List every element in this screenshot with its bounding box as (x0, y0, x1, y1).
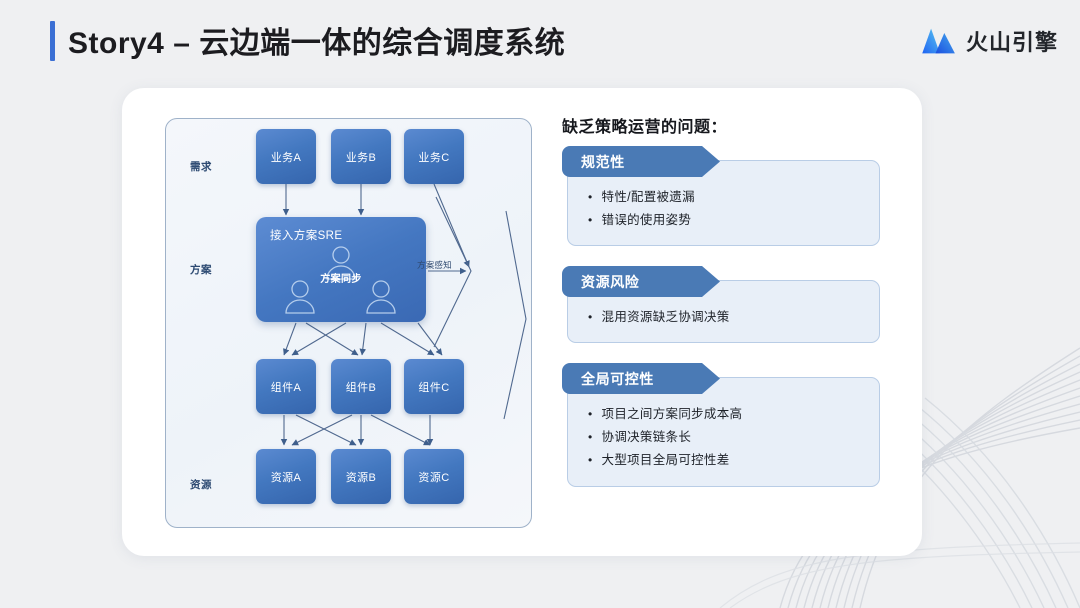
row-label-demand: 需求 (190, 159, 212, 174)
row-label-resource: 资源 (190, 477, 212, 492)
list-item-text: 混用资源缺乏协调决策 (602, 306, 730, 329)
node-business-c[interactable]: 业务C (404, 129, 464, 184)
problem-card-tab[interactable]: 全局可控性 (562, 363, 720, 394)
problems-panel: 缺乏策略运营的问题： 规范性 • 特性/配置被遗漏 • 错误的使用姿势 (562, 113, 902, 533)
list-item: • 协调决策链条长 (588, 426, 868, 449)
problem-card-title: 规范性 (581, 146, 625, 177)
list-item: • 大型项目全局可控性差 (588, 449, 868, 472)
bullet-icon: • (588, 426, 593, 449)
node-resource-a[interactable]: 资源A (256, 449, 316, 504)
volcano-mountain-icon (921, 26, 957, 56)
node-component-c[interactable]: 组件C (404, 359, 464, 414)
node-business-b[interactable]: 业务B (331, 129, 391, 184)
problem-list: • 项目之间方案同步成本高 • 协调决策链条长 • 大型项目全局可控性差 (588, 403, 868, 472)
brand-logo: 火山引擎 (921, 24, 1058, 58)
problem-list: • 混用资源缺乏协调决策 (588, 306, 868, 329)
bullet-icon: • (588, 306, 593, 329)
list-item-text: 错误的使用姿势 (602, 209, 692, 232)
bullet-icon: • (588, 186, 593, 209)
node-sre-platform[interactable]: 接入方案SRE 方案同步 (256, 217, 426, 322)
list-item: • 错误的使用姿势 (588, 209, 868, 232)
brand-logo-text: 火山引擎 (966, 25, 1058, 57)
node-resource-b[interactable]: 资源B (331, 449, 391, 504)
node-business-a[interactable]: 业务A (256, 129, 316, 184)
list-item-text: 项目之间方案同步成本高 (602, 403, 743, 426)
problem-list: • 特性/配置被遗漏 • 错误的使用姿势 (588, 186, 868, 232)
list-item: • 混用资源缺乏协调决策 (588, 306, 868, 329)
problem-card-title: 全局可控性 (581, 363, 654, 394)
list-item: • 项目之间方案同步成本高 (588, 403, 868, 426)
list-item-text: 特性/配置被遗漏 (602, 186, 695, 209)
problem-card-tab[interactable]: 资源风险 (562, 266, 720, 297)
problems-title: 缺乏策略运营的问题： (562, 113, 727, 137)
title-accent-bar (50, 21, 55, 61)
bullet-icon: • (588, 209, 593, 232)
bullet-icon: • (588, 403, 593, 426)
node-component-b[interactable]: 组件B (331, 359, 391, 414)
problem-card-title: 资源风险 (581, 266, 639, 297)
node-component-a[interactable]: 组件A (256, 359, 316, 414)
row-label-plan: 方案 (190, 262, 212, 277)
list-item: • 特性/配置被遗漏 (588, 186, 868, 209)
architecture-diagram: 需求 方案 资源 业务A 业务B 业务C 接入方案SRE 方案同步 方案感知 (165, 118, 532, 528)
page-title: Story4 – 云边端一体的综合调度系统 (68, 18, 565, 62)
list-item-text: 大型项目全局可控性差 (602, 449, 730, 472)
sre-sync-label: 方案同步 (256, 270, 426, 285)
problem-card-tab[interactable]: 规范性 (562, 146, 720, 177)
sre-title: 接入方案SRE (270, 227, 342, 243)
bullet-icon: • (588, 449, 593, 472)
edge-label-plan-awareness: 方案感知 (417, 259, 452, 271)
node-resource-c[interactable]: 资源C (404, 449, 464, 504)
list-item-text: 协调决策链条长 (602, 426, 692, 449)
page-header: Story4 – 云边端一体的综合调度系统 火山引擎 (0, 0, 1080, 80)
content-card: 需求 方案 资源 业务A 业务B 业务C 接入方案SRE 方案同步 方案感知 (122, 88, 922, 556)
